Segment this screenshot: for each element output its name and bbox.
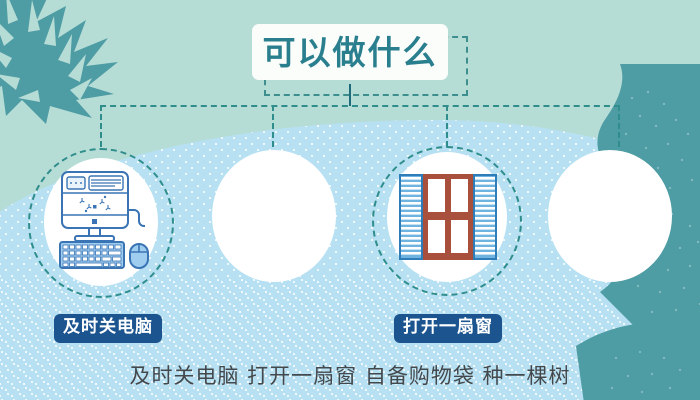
page-title: 可以做什么 [263, 36, 438, 69]
connector-drop-line-2 [272, 105, 274, 147]
window-shutters-icon [398, 172, 498, 262]
connector-drop-line-4 [618, 105, 620, 147]
title-block: 可以做什么 [252, 24, 460, 86]
caption-text: 及时关电脑 打开一扇窗 自备购物袋 种一棵树 [0, 360, 700, 390]
node-1-label[interactable]: 及时关电脑 [54, 314, 162, 343]
title-box: 可以做什么 [252, 24, 448, 80]
slide-canvas: 可以做什么 [0, 0, 700, 400]
desktop-computer-icon [58, 170, 150, 270]
connector-drop-line-1 [100, 105, 102, 147]
connector-horizontal-line [100, 105, 620, 107]
node-2-circle [212, 150, 336, 282]
node-4-circle [548, 150, 672, 282]
node-3-label[interactable]: 打开一扇窗 [394, 314, 502, 343]
connector-drop-line-3 [446, 105, 448, 147]
